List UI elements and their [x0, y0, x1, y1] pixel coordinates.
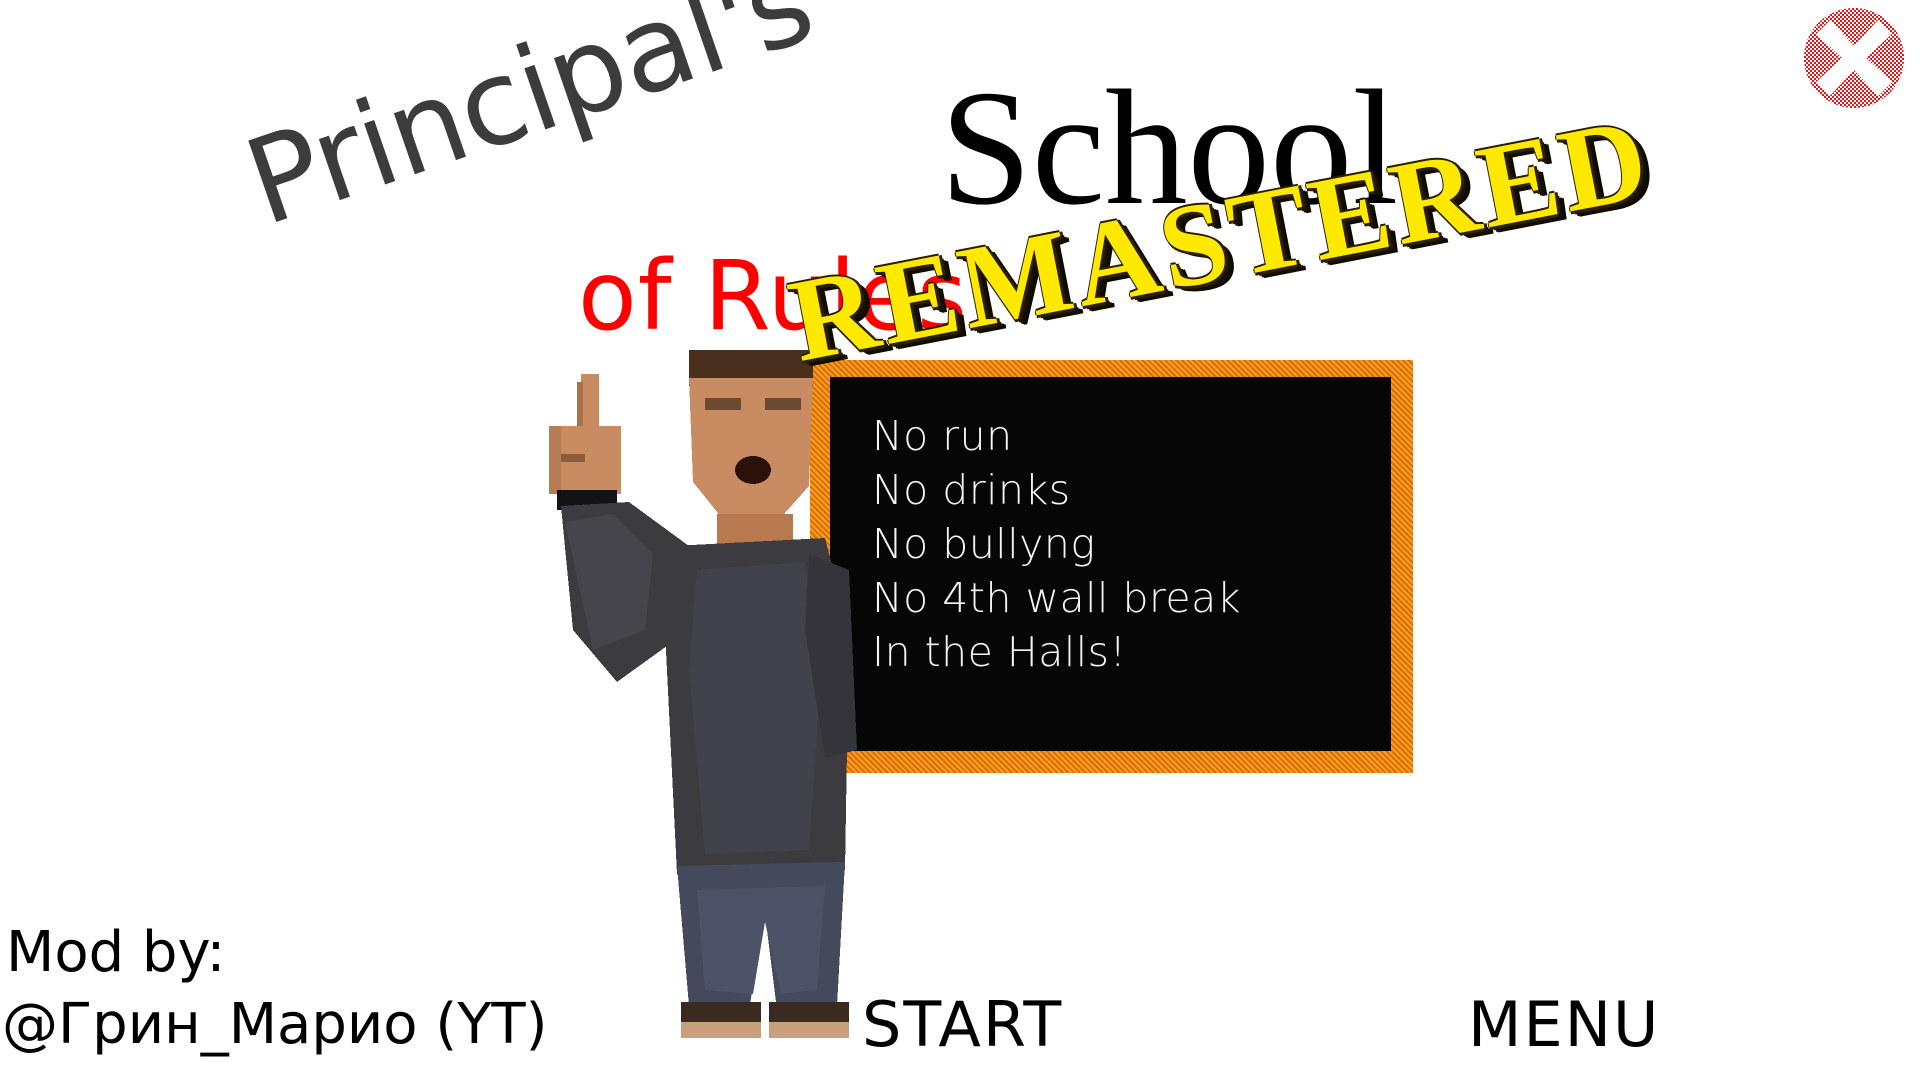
menu-button[interactable]: MENU [1468, 988, 1660, 1061]
close-window-button[interactable] [1802, 6, 1906, 110]
title-word-principals: Principal's [230, 0, 829, 252]
rule-item: No bullyng [872, 517, 1383, 571]
mod-by-label: Mod by: [6, 920, 225, 985]
close-x-icon [1802, 6, 1906, 110]
pointing-hand [549, 374, 621, 510]
principal-character [505, 330, 865, 1050]
rule-item: In the Halls! [872, 625, 1383, 679]
rule-item: No run [872, 409, 1383, 463]
title-screen: Principal's School of Rules No run No dr… [0, 0, 1920, 1080]
chalkboard: No run No drinks No bullyng No 4th wall … [810, 360, 1413, 773]
rule-item: No drinks [872, 463, 1383, 517]
rule-item: No 4th wall break [872, 571, 1383, 625]
rules-list: No run No drinks No bullyng No 4th wall … [872, 409, 1383, 680]
principal-sprite [505, 330, 865, 1050]
mod-by-author: @Грин_Марио (YT) [2, 992, 547, 1057]
chalkboard-surface: No run No drinks No bullyng No 4th wall … [830, 377, 1391, 751]
start-button[interactable]: START [862, 988, 1063, 1061]
head [689, 350, 813, 550]
